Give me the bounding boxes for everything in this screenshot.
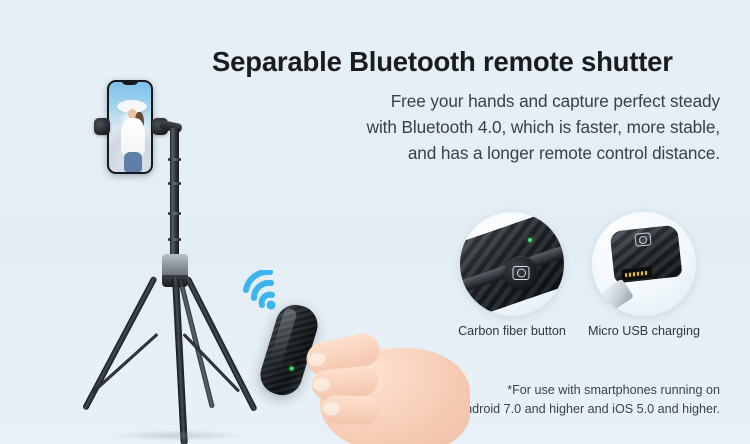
remote-highlight	[268, 307, 298, 368]
callout-image-circle	[460, 212, 564, 316]
fingernail	[312, 378, 330, 393]
description-line: and has a longer remote control distance…	[200, 140, 720, 166]
tripod-brace	[91, 333, 158, 394]
fingernail	[323, 402, 340, 416]
hand-holding-remote	[296, 330, 474, 444]
camera-shutter-icon	[504, 256, 538, 290]
description-line: Free your hands and capture perfect stea…	[200, 88, 720, 114]
pole-joint	[168, 182, 181, 185]
pole-joint	[168, 238, 181, 241]
finger	[322, 395, 381, 425]
led-indicator	[528, 238, 532, 242]
pole-joint	[168, 212, 181, 215]
bluetooth-signal-waves-icon	[240, 270, 288, 312]
blue-jeans	[124, 152, 142, 172]
product-marketing-banner: Separable Bluetooth remote shutter Free …	[0, 0, 750, 444]
fingernail	[307, 351, 326, 367]
description-text: Free your hands and capture perfect stea…	[200, 88, 720, 166]
callout-micro-usb-charging: Micro USB charging	[592, 212, 703, 338]
callout-carbon-fiber-button: Carbon fiber button	[460, 212, 571, 338]
smartphone	[107, 80, 153, 174]
remote-led-indicator	[289, 366, 294, 371]
phone-screen-photo	[109, 82, 151, 172]
pole-joint	[168, 158, 181, 161]
callout-caption: Carbon fiber button	[453, 324, 571, 338]
camera-glyph	[513, 266, 530, 280]
ground-shadow	[112, 430, 244, 441]
callout-caption: Micro USB charging	[585, 324, 703, 338]
phone-tripod-selfie-stick	[60, 72, 240, 444]
callout-image-circle	[592, 212, 696, 316]
white-dress	[121, 118, 145, 156]
description-line: with Bluetooth 4.0, which is faster, mor…	[200, 114, 720, 140]
phone-clamp-left	[94, 118, 110, 135]
telescoping-pole	[170, 128, 179, 256]
page-title: Separable Bluetooth remote shutter	[212, 46, 720, 78]
phone-notch	[122, 80, 139, 85]
camera-shutter-icon	[634, 232, 651, 247]
